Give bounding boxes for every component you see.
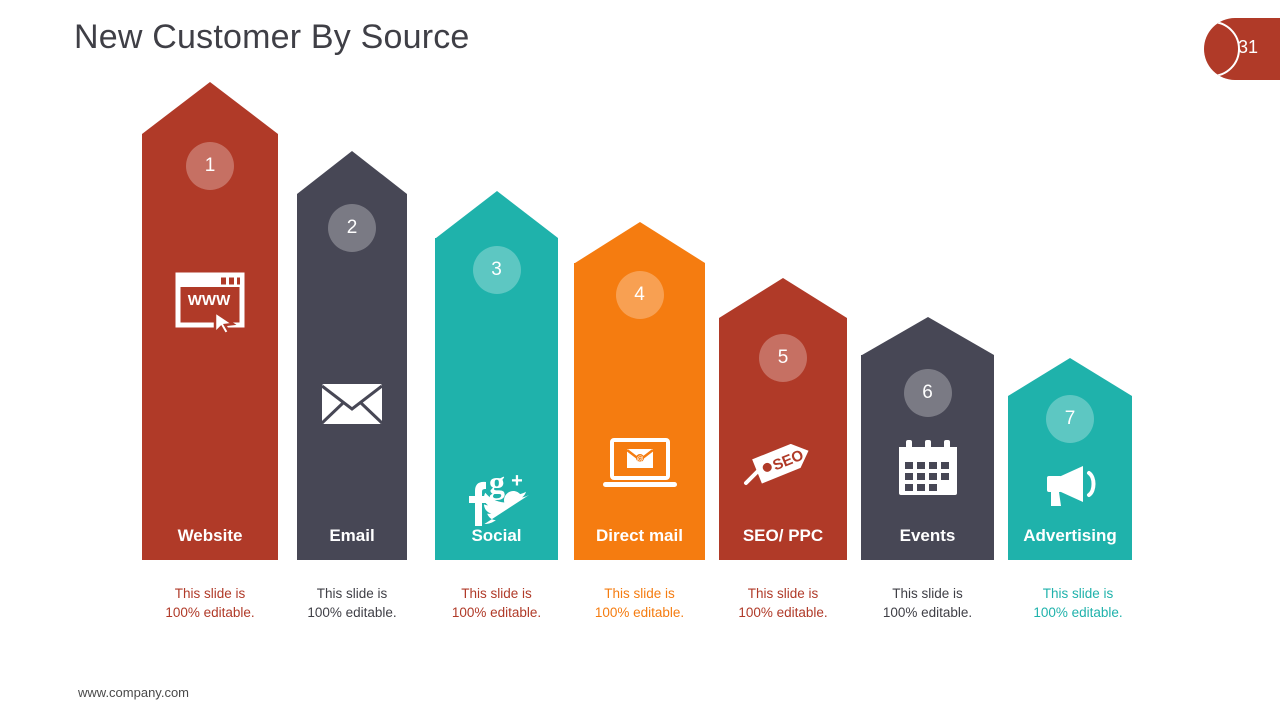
column-description-website: This slide is 100% editable. <box>142 584 278 622</box>
column-number-badge: 2 <box>328 204 376 252</box>
desc-line-2: 100% editable. <box>719 603 847 622</box>
desc-line-1: This slide is <box>435 584 558 603</box>
slide-number: 31 <box>1238 37 1258 58</box>
page-title: New Customer By Source <box>74 18 470 57</box>
chart-column-advertising[interactable]: 7 Advertising <box>1008 358 1132 560</box>
desc-line-1: This slide is <box>574 584 705 603</box>
laptop-mail-icon: @ <box>594 437 686 491</box>
arrow-head <box>436 191 558 238</box>
desc-line-1: This slide is <box>861 584 994 603</box>
social-networks-icon: g + <box>451 469 543 527</box>
desc-line-1: This slide is <box>292 584 412 603</box>
column-number-badge: 7 <box>1046 395 1094 443</box>
arrow-head <box>297 151 407 194</box>
arrow-chart: 1 WWW Website This slide is 100% editabl… <box>0 100 1280 660</box>
column-description-social: This slide is 100% editable. <box>435 584 558 622</box>
desc-line-2: 100% editable. <box>435 603 558 622</box>
badge-arc-decoration <box>1204 21 1240 77</box>
column-description-seo-ppc: This slide is 100% editable. <box>719 584 847 622</box>
arrow-shape <box>719 278 847 560</box>
column-number-badge: 3 <box>473 246 521 294</box>
column-description-events: This slide is 100% editable. <box>861 584 994 622</box>
desc-line-1: This slide is <box>719 584 847 603</box>
arrow-head <box>575 222 705 263</box>
column-number-badge: 6 <box>904 369 952 417</box>
chart-column-social[interactable]: 3 g + Social <box>435 191 558 560</box>
column-label: Email <box>297 526 407 546</box>
chart-column-email[interactable]: 2 Email <box>297 151 407 560</box>
desc-line-2: 100% editable. <box>574 603 705 622</box>
desc-line-2: 100% editable. <box>1008 603 1148 622</box>
chart-column-website[interactable]: 1 WWW Website <box>142 82 278 560</box>
column-label: Website <box>142 526 278 546</box>
desc-line-1: This slide is <box>142 584 278 603</box>
column-number-badge: 5 <box>759 334 807 382</box>
footer-website-url: www.company.com <box>78 685 189 700</box>
column-label: Advertising <box>1008 526 1132 546</box>
desc-line-2: 100% editable. <box>861 603 994 622</box>
chart-column-direct-mail[interactable]: 4 @ Direct mail <box>574 222 705 560</box>
calendar-icon <box>882 439 974 497</box>
svg-text:g: g <box>489 469 505 500</box>
desc-line-1: This slide is <box>1008 584 1148 603</box>
column-label: SEO/ PPC <box>719 526 847 546</box>
chart-column-events[interactable]: 6 <box>861 317 994 560</box>
column-description-advertising: This slide is 100% editable. <box>1008 584 1148 622</box>
svg-text:WWW: WWW <box>188 292 231 309</box>
browser-www-icon: WWW <box>164 272 256 334</box>
envelope-icon <box>306 383 398 425</box>
slide-number-badge: 31 <box>1204 18 1280 80</box>
arrow-head <box>142 82 278 134</box>
column-number-badge: 1 <box>186 142 234 190</box>
column-label: Social <box>435 526 558 546</box>
seo-tag-icon: SEO <box>737 433 829 489</box>
column-description-email: This slide is 100% editable. <box>292 584 412 622</box>
column-description-direct-mail: This slide is 100% editable. <box>574 584 705 622</box>
megaphone-icon <box>1024 463 1116 509</box>
column-label: Events <box>861 526 994 546</box>
svg-text:+: + <box>511 470 523 492</box>
arrow-head <box>1008 358 1132 396</box>
desc-line-2: 100% editable. <box>292 603 412 622</box>
chart-column-seo-ppc[interactable]: 5 SEO SEO/ PPC <box>719 278 847 560</box>
arrow-body <box>142 134 278 560</box>
column-label: Direct mail <box>574 526 705 546</box>
column-number-badge: 4 <box>616 271 664 319</box>
svg-text:@: @ <box>636 456 643 463</box>
desc-line-2: 100% editable. <box>142 603 278 622</box>
arrow-head <box>719 278 847 318</box>
arrow-head <box>862 317 994 355</box>
